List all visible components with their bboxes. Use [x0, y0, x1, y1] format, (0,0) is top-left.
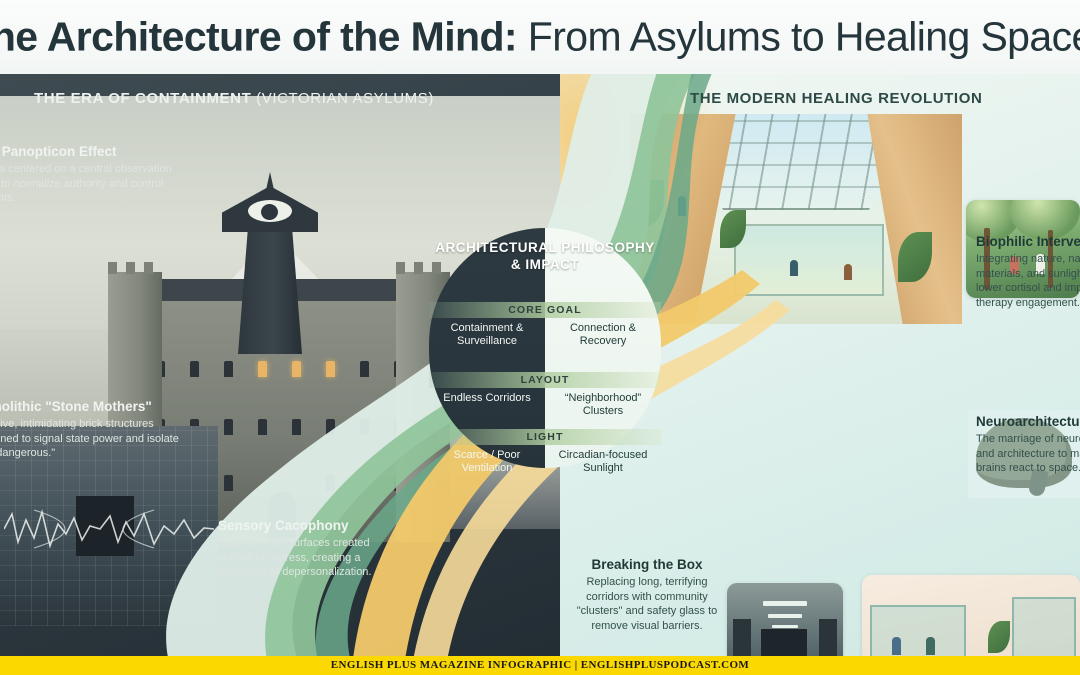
comparison-past-value: Containment & Surveillance [431, 322, 543, 349]
lit-window [326, 361, 335, 377]
interior-glass-wall [734, 224, 884, 296]
atrium-figure [678, 196, 686, 216]
atrium-image [630, 114, 962, 324]
infographic-canvas: THE ERA OF CONTAINMENT (VICTORIAN ASYLUM… [0, 74, 1080, 656]
lit-window [292, 361, 301, 377]
panopticon-tower [238, 224, 302, 354]
comparison-present-value: “Neighborhood” Clusters [547, 392, 659, 419]
annotation-breaking-body: Replacing long, terrifying corridors wit… [572, 575, 722, 633]
left-section-header-normal: (VICTORIAN ASYLUMS) [251, 90, 434, 107]
left-section-header: THE ERA OF CONTAINMENT (VICTORIAN ASYLUM… [34, 90, 434, 107]
comparison-present-value: Circadian-focused Sunlight [547, 449, 659, 476]
surveillance-eye-pupil [261, 204, 278, 220]
comparison-category-label: LIGHT [429, 429, 661, 445]
annotation-sensory-heading: Sensory Cacophony [218, 518, 398, 534]
lit-window [258, 361, 267, 377]
community-room-image [862, 575, 1080, 656]
comparison-category-label: CORE GOAL [429, 302, 661, 318]
comparison-title: ARCHITECTURAL PHILOSOPHY & IMPACT [429, 240, 661, 274]
annotation-stone-mothers-heading: Monolithic "Stone Mothers" [0, 399, 189, 415]
annotation-panopticon-body: Wards centered on a central observation … [0, 162, 184, 206]
annotation-biophilic-heading: Biophilic Intervention [976, 234, 1080, 250]
soundwave-overlay [4, 508, 214, 550]
annotation-panopticon: The Panopticon Effect Wards centered on … [0, 144, 184, 206]
corridor-depth [761, 629, 807, 656]
footer-bar: ENGLISH PLUS MAGAZINE INFOGRAPHIC | ENGL… [0, 656, 1080, 675]
annotation-biophilic: Biophilic Intervention Integrating natur… [976, 234, 1080, 310]
annotation-sensory-body: Stone and tile surfaces created echoss o… [218, 536, 398, 580]
annotation-panopticon-heading: The Panopticon Effect [0, 144, 184, 160]
annotation-breaking-heading: Breaking the Box [572, 557, 722, 573]
comparison-circle: ARCHITECTURAL PHILOSOPHY & IMPACT CORE G… [429, 228, 661, 468]
room-plant [988, 621, 1010, 653]
annotation-sensory-cacophony: Sensory Cacophony Stone and tile surface… [218, 518, 398, 580]
comparison-present-value: Connection & Recovery [547, 322, 659, 349]
left-section-header-strong: THE ERA OF CONTAINMENT [34, 90, 251, 107]
footer-text: ENGLISH PLUS MAGAZINE INFOGRAPHIC | ENGL… [0, 656, 1080, 675]
page-title-normal: From Asylums to Healing Spaces [517, 14, 1080, 60]
annotation-neuro-body: The marriage of neuroscience and archite… [976, 432, 1080, 476]
annotation-breaking-the-box: Breaking the Box Replacing long, terrify… [572, 557, 722, 633]
institutional-corridor-image [727, 583, 843, 656]
right-section-header: THE MODERN HEALING REVOLUTION [690, 90, 982, 107]
annotation-stone-mothers-body: Massive, intimidating brick structures d… [0, 417, 189, 461]
atrium-figure [790, 260, 798, 276]
atrium-figure [844, 264, 852, 280]
page-title: The Architecture of the Mind: From Asylu… [0, 14, 1080, 61]
comparison-category-label: LAYOUT [429, 372, 661, 388]
comparison-past-value: Endless Corridors [431, 392, 543, 405]
infographic-root: The Architecture of the Mind: From Asylu… [0, 0, 1080, 675]
annotation-stone-mothers: Monolithic "Stone Mothers" Massive, inti… [0, 399, 189, 461]
page-title-bold: The Architecture of the Mind: [0, 14, 517, 60]
annotation-neuro-heading: Neuroarchitecture [976, 414, 1080, 430]
annotation-neuroarchitecture: Neuroarchitecture The marriage of neuros… [976, 414, 1080, 476]
annotation-biophilic-body: Integrating nature, natural materials, a… [976, 252, 1080, 310]
comparison-past-value: Scarce / Poor Ventilation [431, 449, 543, 476]
title-bar: The Architecture of the Mind: From Asylu… [0, 0, 1080, 74]
